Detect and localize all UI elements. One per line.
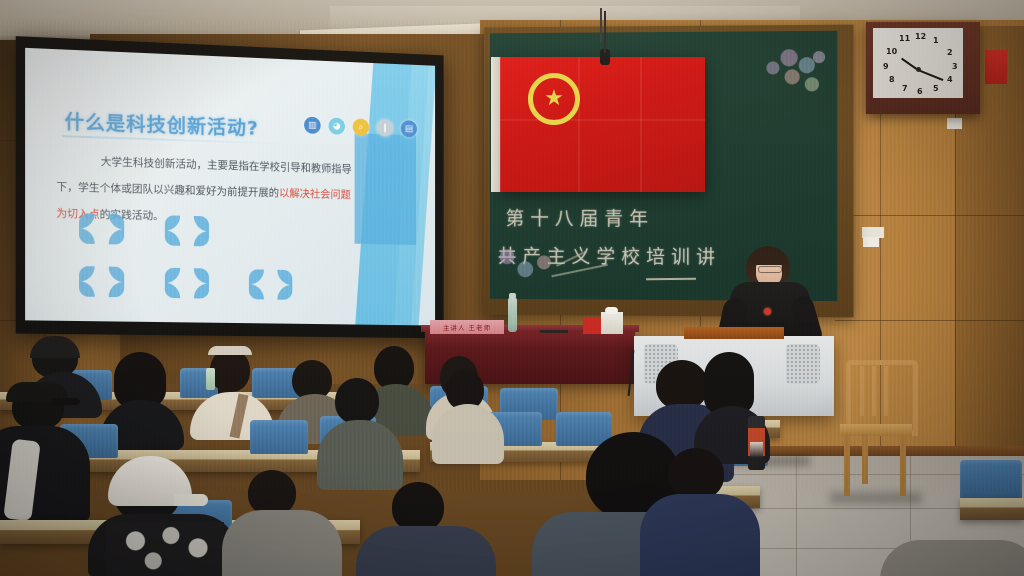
presenter-badge	[764, 308, 771, 315]
speaker-nameplate: 主讲人 王老师	[430, 320, 504, 334]
decor-shape	[165, 268, 209, 299]
pie-chart-icon: ◕	[328, 117, 345, 134]
decor-shape	[79, 213, 124, 245]
chair-leg	[844, 434, 850, 496]
head	[668, 448, 724, 500]
shape-row	[79, 213, 368, 250]
presentation-slide: 什么是科技创新活动? ▥ ◕ ⌕ ❙ ▤ 大学生科技创新活动，主要是指在学校引导…	[25, 48, 435, 326]
head	[392, 482, 444, 532]
decor-shape	[249, 269, 292, 300]
flag-emblem-circle: ★	[528, 73, 580, 125]
torso	[317, 420, 403, 490]
wall-seam	[835, 215, 1024, 216]
wall-sign-red	[985, 50, 1007, 84]
blackboard-underline	[646, 278, 696, 281]
shape-row	[79, 266, 368, 301]
wooden-chair	[838, 360, 912, 500]
decor-shape	[79, 266, 124, 297]
chalk-flower-decor-bottom	[494, 233, 622, 293]
clock-face: 12 1 2 3 4 5 6 7 8 9 10 11 ·	[873, 28, 963, 98]
presenter-fringe	[752, 252, 786, 265]
chair-slat	[872, 366, 876, 416]
seat	[250, 420, 308, 454]
water-bottle	[508, 298, 517, 332]
communist-youth-league-flag: ★	[500, 57, 705, 192]
headband	[208, 346, 252, 355]
wall-seam	[835, 320, 1024, 321]
slide-decorative-shapes	[79, 213, 368, 323]
torso	[880, 540, 1024, 576]
glasses-icon	[758, 266, 782, 273]
flag-hoist-band	[491, 57, 500, 192]
patterned-scarf	[106, 522, 224, 576]
classroom-photo-scene: 第十八届青年 共产主义学校培训讲	[0, 0, 1024, 576]
clock-brand-text: ·	[909, 54, 910, 59]
wall-label-right-sub	[863, 237, 879, 247]
torso	[640, 494, 760, 576]
torso	[222, 510, 342, 576]
flag-star-icon: ★	[544, 88, 564, 110]
chair-slat	[884, 366, 888, 416]
cap-brim	[174, 494, 208, 506]
bottle-cap	[509, 293, 516, 299]
nameplate-text: 主讲人 王老师	[443, 322, 491, 332]
cap-brim	[52, 398, 80, 405]
document-icon: ▤	[401, 120, 417, 137]
student-bottle	[206, 368, 215, 390]
wall-clock: 12 1 2 3 4 5 6 7 8 9 10 11 ·	[866, 22, 980, 114]
search-icon: ⌕	[353, 118, 369, 135]
chair-leg	[900, 434, 906, 496]
ceiling-cord	[600, 8, 602, 42]
clock-minute-hand	[918, 69, 944, 81]
chalk-flower-decor-top	[740, 43, 831, 122]
thermos-flask	[748, 416, 765, 470]
tissue-sheet	[605, 307, 618, 314]
lectern-top-trim	[684, 327, 784, 339]
flag-cord	[604, 11, 606, 53]
decor-shape	[165, 215, 209, 246]
tissue-box	[601, 312, 623, 334]
slide-icon-row: ▥ ◕ ⌕ ❙ ▤	[304, 117, 417, 138]
head	[335, 378, 379, 424]
student-desk-row	[960, 498, 1024, 520]
chair-leg	[862, 434, 868, 484]
desk-paper	[540, 330, 568, 333]
thermos-label	[750, 442, 763, 458]
blackboard-line-1: 第十八届青年	[506, 208, 654, 230]
clock-center-pin	[916, 67, 921, 72]
projection-screen: 什么是科技创新活动? ▥ ◕ ⌕ ❙ ▤ 大学生科技创新活动，主要是指在学校引导…	[16, 36, 444, 338]
seat	[960, 460, 1022, 500]
bar-chart-icon: ▥	[304, 117, 321, 134]
torso	[356, 526, 496, 576]
head	[656, 360, 708, 410]
speaker-grille-right	[786, 344, 820, 384]
info-icon: ❙	[377, 119, 393, 136]
head	[704, 352, 754, 414]
chair-slat	[860, 366, 864, 416]
flag-folds	[500, 57, 705, 192]
wall-label-upper	[947, 118, 962, 129]
